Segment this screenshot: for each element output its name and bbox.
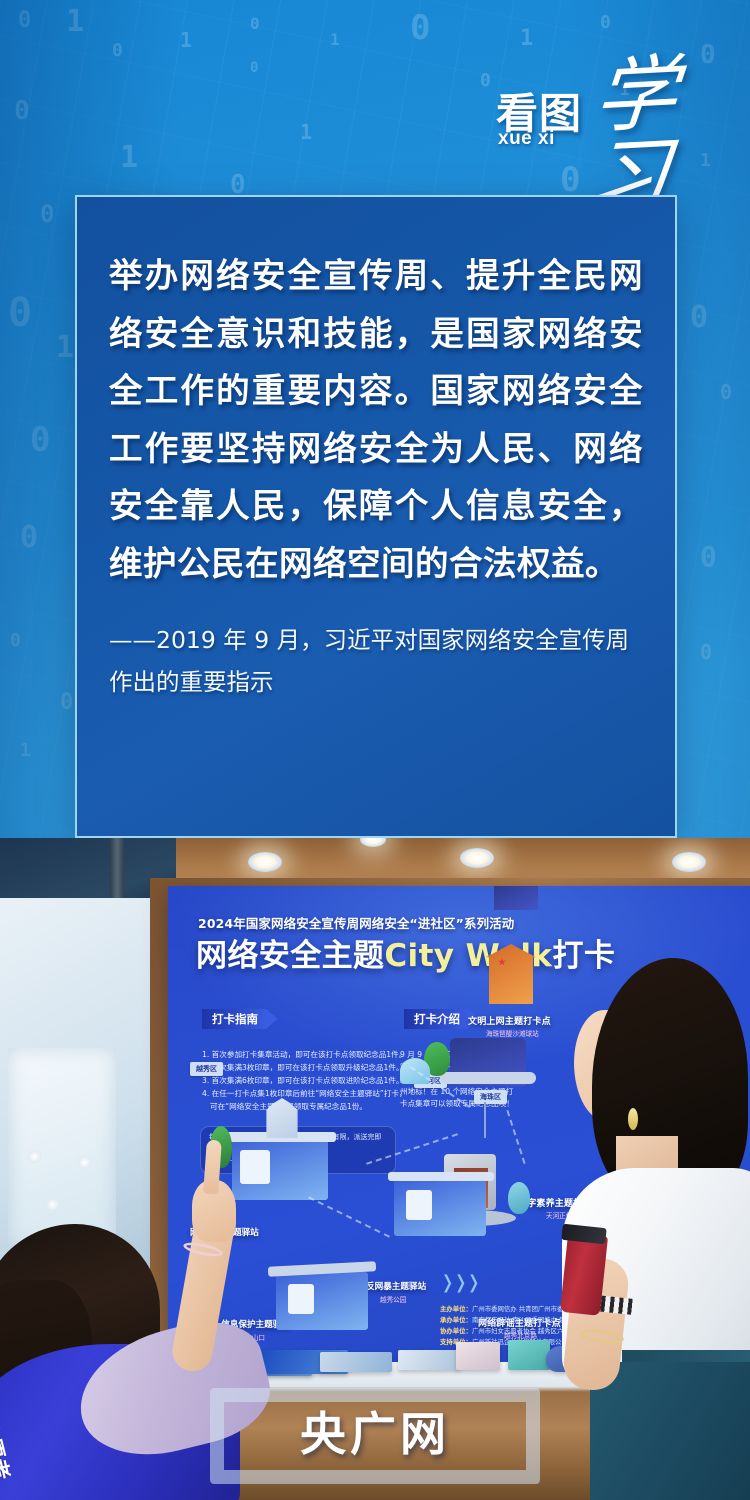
- intro-tag: 打卡介绍: [404, 1009, 468, 1029]
- kiosk-screen-2: [406, 1190, 432, 1220]
- ceiling-spotlight: [460, 848, 494, 868]
- kiosk-roof-2: [388, 1172, 494, 1181]
- route-dash: [308, 1196, 390, 1237]
- wall-light-dot: [78, 1156, 91, 1169]
- kiosk-screen-1: [240, 1150, 270, 1184]
- credit-role: 承办单位：: [440, 1316, 472, 1324]
- wall-light-dot: [46, 1198, 59, 1211]
- district-sign-yuexiu: 越秀区: [190, 1062, 223, 1076]
- board-title: 网络安全主题City Walk打卡: [196, 930, 615, 975]
- credit-role: 主办单位：: [440, 1305, 472, 1313]
- guide-tag: 打卡指南: [202, 1009, 266, 1029]
- logo-pinyin: xue xi: [498, 128, 555, 150]
- quote-text: 举办网络安全宣传周、提升全民网络安全意识和技能，是国家网络安全工作的重要内容。国…: [109, 247, 643, 593]
- guide-item: 4. 在任一打卡点集1枚印章后前往“网络安全主题驿站”打卡，: [202, 1088, 418, 1100]
- earring: [628, 1108, 638, 1130]
- guide-item: 3. 首次集满6枚印章，即可在该打卡点领取进阶纪念品1件。: [202, 1075, 418, 1087]
- credit-role: 协办单位：: [440, 1327, 472, 1335]
- poi-sub-1: 海珠琶醍沙滩球站: [486, 1028, 539, 1038]
- chevron-right-icon: ❭❭❭: [440, 1272, 479, 1293]
- district-sign-haizhu: 海珠区: [474, 1090, 507, 1104]
- station-label-2: 反网暴主题驿站: [366, 1280, 426, 1292]
- gift-box-teal: [508, 1340, 550, 1370]
- watermark-cnr: 央广网: [0, 1398, 750, 1464]
- poi-illustration-top: [494, 886, 538, 910]
- ceiling-spotlight: [672, 852, 706, 872]
- route-dash: [506, 1110, 525, 1164]
- stacked-gift-box: [456, 1342, 500, 1370]
- quote-attribution: ——2019 年 9 月，习近平对国家网络安全宣传周作出的重要指示: [109, 619, 643, 704]
- quote-card: 举办网络安全宣传周、提升全民网络安全意识和技能，是国家网络安全工作的重要内容。国…: [75, 195, 677, 838]
- kantu-xuexi-logo: 看图 xue xi 学习: [496, 62, 714, 162]
- wall-panel: [8, 1048, 116, 1248]
- guide-item: 可在“网络安全主题驿站”领取专属纪念品1份。: [210, 1101, 426, 1113]
- board-title-cn1: 网络安全主题: [196, 938, 384, 974]
- guide-item: 1. 首次参加打卡集章活动，即可在该打卡点领取纪念品1件。: [202, 1049, 418, 1061]
- leaflet: [398, 1350, 460, 1370]
- blouse-trim: [622, 1350, 750, 1362]
- station-sub-2: 越秀公园: [380, 1294, 406, 1304]
- poi-label-1: 文明上网主题打卡点: [468, 1014, 551, 1027]
- coffee-cup: [560, 1232, 608, 1316]
- tree-icon: [508, 1182, 530, 1214]
- kiosk-screen-3: [288, 1284, 314, 1314]
- poi-base-1: [440, 1072, 536, 1084]
- leaflet: [320, 1352, 392, 1372]
- poster-root: 0100100100100100100100100100100100100100…: [0, 0, 750, 1500]
- ceiling-spotlight: [248, 852, 282, 872]
- wall-light-dot: [28, 1150, 41, 1163]
- guide-item: 2. 首次集满3枚印章，即可在该打卡点领取升级纪念品1件。: [202, 1062, 418, 1074]
- sign-post: [484, 1102, 486, 1138]
